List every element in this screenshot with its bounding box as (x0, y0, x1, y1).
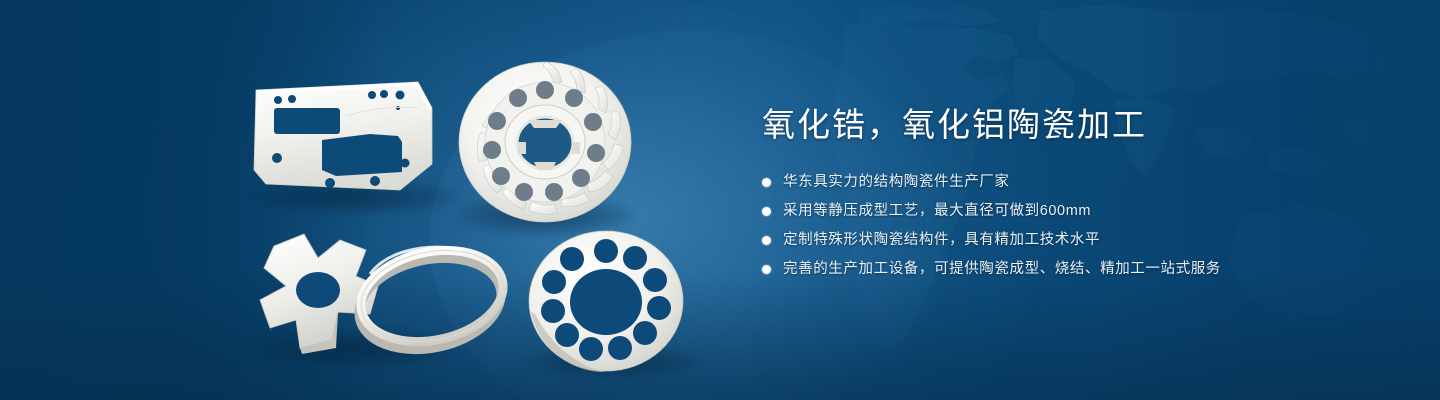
feature-text: 采用等静压成型工艺，最大直径可做到600mm (783, 201, 1091, 221)
feature-text: 华东具实力的结构陶瓷件生产厂家 (783, 172, 1010, 192)
bullet-circle-icon (762, 178, 771, 187)
list-item: 定制特殊形状陶瓷结构件，具有精加工技术水平 (762, 230, 1322, 250)
feature-text: 定制特殊形状陶瓷结构件，具有精加工技术水平 (783, 230, 1100, 250)
ceramic-perforated-disc (527, 228, 685, 379)
product-photo-group (0, 0, 760, 400)
banner-text-block: 氧化锆，氧化铝陶瓷加工 华东具实力的结构陶瓷件生产厂家 采用等静压成型工艺，最大… (762, 105, 1322, 288)
ceramic-bladed-impeller (450, 50, 640, 240)
hero-banner: 氧化锆，氧化铝陶瓷加工 华东具实力的结构陶瓷件生产厂家 采用等静压成型工艺，最大… (0, 0, 1440, 400)
feature-text: 完善的生产加工设备，可提供陶瓷成型、烧结、精加工一站式服务 (783, 259, 1221, 279)
ceramic-plate-with-cutouts (250, 78, 440, 203)
bullet-circle-icon (762, 265, 771, 274)
list-item: 华东具实力的结构陶瓷件生产厂家 (762, 172, 1322, 192)
list-item: 采用等静压成型工艺，最大直径可做到600mm (762, 201, 1322, 221)
page-title: 氧化锆，氧化铝陶瓷加工 (762, 105, 1322, 145)
bullet-circle-icon (762, 207, 771, 216)
bullet-circle-icon (762, 236, 771, 245)
ceramic-ring (352, 232, 522, 362)
feature-list: 华东具实力的结构陶瓷件生产厂家 采用等静压成型工艺，最大直径可做到600mm 定… (762, 172, 1322, 279)
list-item: 完善的生产加工设备，可提供陶瓷成型、烧结、精加工一站式服务 (762, 259, 1322, 279)
